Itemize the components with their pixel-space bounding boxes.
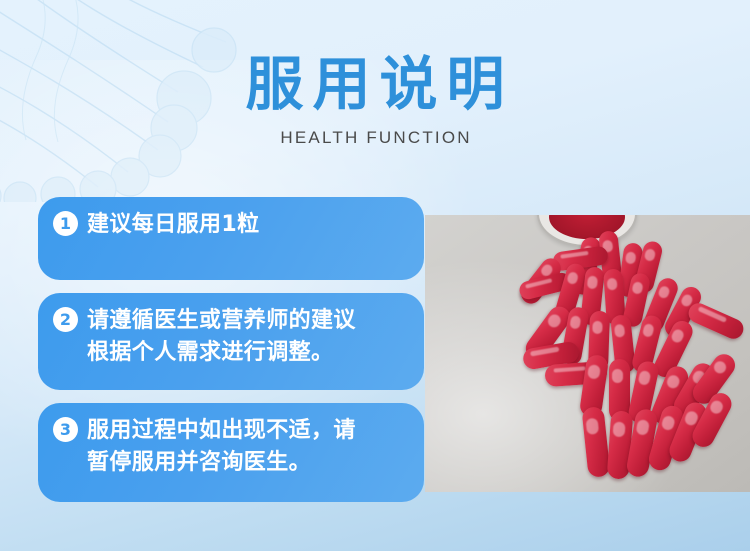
- title-block: 服用说明 HEALTH FUNCTION: [0, 52, 750, 148]
- instruction-text-3: 服用过程中如出现不适，请 暂停服用并咨询医生。: [87, 415, 410, 479]
- instruction-number-badge-2: 2: [53, 307, 78, 332]
- instruction-number-badge-1: 1: [53, 211, 78, 236]
- page-title: 服用说明: [0, 52, 750, 116]
- instruction-item-1: 1 建议每日服用1粒: [38, 197, 424, 280]
- instruction-item-3: 3 服用过程中如出现不适，请 暂停服用并咨询医生。: [38, 403, 424, 502]
- poster-canvas: 服用说明 HEALTH FUNCTION 1 建议每日服用1粒 2 请遵循医生或…: [0, 0, 750, 551]
- instruction-list: 1 建议每日服用1粒 2 请遵循医生或营养师的建议 根据个人需求进行调整。 3 …: [38, 197, 424, 515]
- instruction-item-2: 2 请遵循医生或营养师的建议 根据个人需求进行调整。: [38, 293, 424, 390]
- instruction-text-1: 建议每日服用1粒: [87, 209, 410, 241]
- page-subtitle: HEALTH FUNCTION: [0, 128, 750, 148]
- instruction-text-2: 请遵循医生或营养师的建议 根据个人需求进行调整。: [87, 305, 410, 369]
- red-capsules-photo: [425, 215, 750, 492]
- instruction-number-badge-3: 3: [53, 417, 78, 442]
